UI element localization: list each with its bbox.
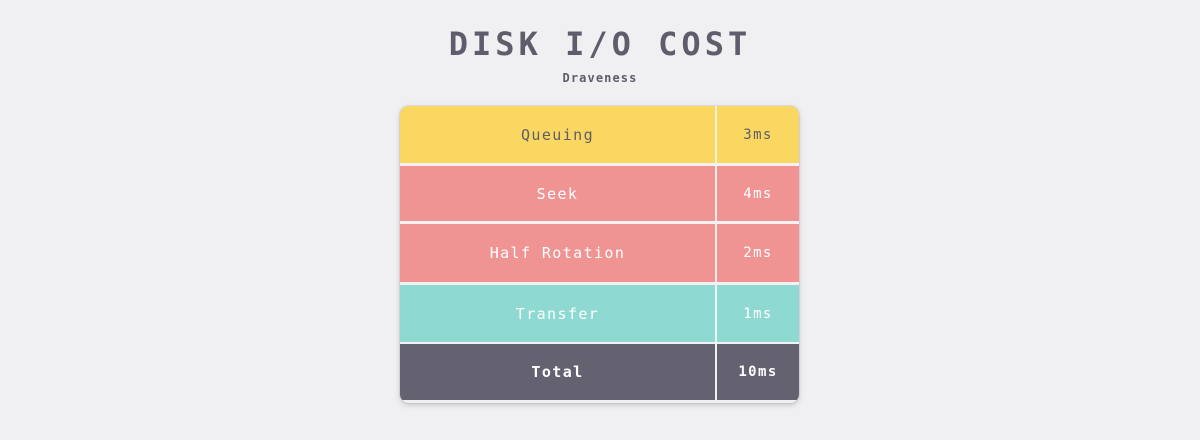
table-row-total: Total 10ms xyxy=(400,342,799,400)
table-row-queuing: Queuing 3ms xyxy=(400,106,799,163)
page-subtitle: Draveness xyxy=(0,70,1200,86)
table-cell-value-half-rotation: 2ms xyxy=(715,224,799,282)
table-cell-label-total: Total xyxy=(400,344,715,400)
table-cell-label-transfer: Transfer xyxy=(400,285,715,342)
table-cell-label-queuing: Queuing xyxy=(400,106,715,163)
table-row-half-rotation: Half Rotation 2ms xyxy=(400,221,799,282)
table-cell-value-queuing: 3ms xyxy=(715,106,799,163)
table-row-transfer: Transfer 1ms xyxy=(400,282,799,342)
infographic-page: DISK I/O COST Draveness Queuing 3ms Seek… xyxy=(0,0,1200,440)
table-cell-label-seek: Seek xyxy=(400,166,715,221)
table-row-seek: Seek 4ms xyxy=(400,163,799,221)
cost-breakdown-table: Queuing 3ms Seek 4ms Half Rotation 2ms T… xyxy=(400,106,799,403)
page-title: DISK I/O COST xyxy=(0,22,1200,66)
table-cell-value-transfer: 1ms xyxy=(715,285,799,342)
header: DISK I/O COST Draveness xyxy=(0,22,1200,86)
table-cell-label-half-rotation: Half Rotation xyxy=(400,224,715,282)
table-cell-value-seek: 4ms xyxy=(715,166,799,221)
table-cell-value-total: 10ms xyxy=(715,344,799,400)
